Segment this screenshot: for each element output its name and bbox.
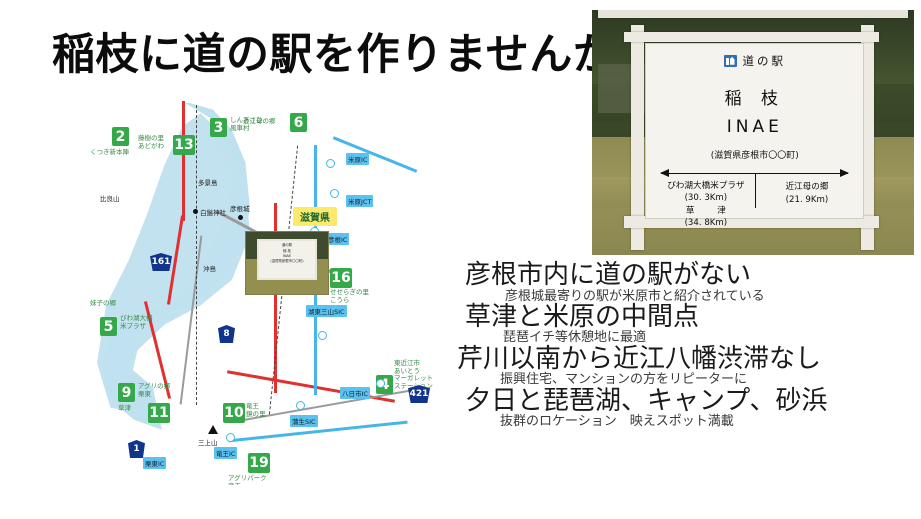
shiga-roadside-station-map: 2 くつき新本陣 3 しんあさひ 風車村 13 藤樹の里 あどがわ 6 近江母の… xyxy=(78,85,438,485)
landmark-dot-hikonejo xyxy=(238,215,243,220)
point-1-headline: 彦根市内に道の駅がない xyxy=(455,262,921,290)
landmark-hikone-castle: 彦根城 xyxy=(230,203,250,213)
roadside-station-icon xyxy=(724,55,737,67)
route-shield-421: 421 xyxy=(408,385,430,403)
sign-top-rail xyxy=(598,10,907,18)
map-marker-2-label: くつき新本陣 xyxy=(90,149,129,157)
inset-board: 道の駅 稲 枝 INAE (滋賀県彦根市〇〇町) xyxy=(257,239,316,280)
point-4-sub: 抜群のロケーション 映えスポット満載 xyxy=(455,415,921,429)
point-4-headline: 夕日と琵琶湖、キャンプ、砂浜 xyxy=(455,388,921,416)
road-red-north xyxy=(182,101,185,221)
page-title: 稲枝に道の駅を作りませんか xyxy=(52,20,616,82)
road-blue-south xyxy=(228,421,407,443)
map-marker-9[interactable]: 9 xyxy=(118,383,135,402)
sign-header-label: 道の駅 xyxy=(743,54,787,68)
ic-node-maibara-jct xyxy=(330,189,339,198)
sign-destinations-left: びわ湖大橋米プラザ (30. 3Km) 草 津 (34. 8Km) xyxy=(657,180,755,230)
inset-address: (滋賀県彦根市〇〇町) xyxy=(259,259,314,264)
map-marker-11-label: アグリの郷 栗東 xyxy=(138,383,170,398)
sign-station-name: 稲 枝 xyxy=(646,84,863,109)
ic-node-gamo xyxy=(296,401,305,410)
sign-header-row: 道の駅 xyxy=(646,53,863,69)
map-marker-6[interactable]: 6 xyxy=(290,113,307,132)
map-marker-16-label: せせらぎの里 こうら xyxy=(330,289,369,304)
map-marker-11[interactable]: 11 xyxy=(148,403,170,423)
roadside-sign-photo: 道の駅 稲 枝 INAE (滋賀県彦根市〇〇町) びわ湖大橋米プラザ (30. … xyxy=(592,10,914,255)
map-marker-2[interactable]: 2 xyxy=(112,127,129,146)
landmark-mikamiyama: 三上山 xyxy=(198,437,218,447)
ic-label-ritto-ic[interactable]: 栗東IC xyxy=(143,457,166,469)
sign-left-dist-1: (30. 3Km) xyxy=(657,192,755,204)
sign-left-dist-2: (34. 8Km) xyxy=(657,217,755,229)
sign-right-dist-1: (21. 9Km) xyxy=(759,194,855,206)
ic-label-gamo-sic[interactable]: 蒲生SIC xyxy=(290,415,318,427)
map-marker-16[interactable]: 16 xyxy=(330,268,352,288)
map-marker-5[interactable]: 5 xyxy=(100,317,117,336)
ic-node-maibara xyxy=(326,159,335,168)
ic-node-kotosanzan xyxy=(318,331,327,340)
map-marker-3[interactable]: 3 xyxy=(210,118,227,137)
ic-label-yokaichi-ic[interactable]: 八日市IC xyxy=(340,387,370,399)
ic-node-ryuo xyxy=(226,433,235,442)
point-3-headline: 芹川以南から近江八幡渋滞なし xyxy=(455,346,921,374)
sign-destinations-right: 近江母の郷 (21. 9Km) xyxy=(759,181,855,206)
ic-label-ryuo-ic[interactable]: 竜王IC xyxy=(214,447,237,459)
landmark-tri-mikami xyxy=(208,425,218,434)
map-marker-10-label: 竜王 鏡の里 xyxy=(246,403,266,418)
road-dashed-rail xyxy=(196,105,197,405)
points-list: 彦根市内に道の駅がない 彦根城最寄りの駅が米原市と紹介されている 草津と米原の中… xyxy=(455,262,921,429)
map-marker-9-label: 草津 xyxy=(118,405,131,413)
map-marker-10[interactable]: 10 xyxy=(223,403,245,423)
sign-rail-top xyxy=(624,32,878,42)
landmark-dot-shirahige xyxy=(193,209,198,214)
sign-divider xyxy=(755,173,756,208)
map-marker-13-label: 藤樹の里 あどがわ xyxy=(138,135,164,150)
sign-station-romaji: INAE xyxy=(646,117,863,137)
map-marker-13[interactable]: 13 xyxy=(173,135,195,155)
point-2-headline: 草津と米原の中間点 xyxy=(455,304,921,332)
map-marker-19[interactable]: 19 xyxy=(248,453,270,473)
route-shield-1: 1 xyxy=(128,440,145,458)
route-shield-161: 161 xyxy=(150,253,172,271)
ic-label-kotosanzan-sic[interactable]: 湖東三山SIC xyxy=(306,305,347,317)
map-marker-6-label: 近江母の郷 xyxy=(243,118,276,126)
slide-canvas: 稲枝に道の駅を作りませんか 道の駅 稲 枝 INAE (滋賀県彦根市〇〇町) び… xyxy=(0,0,921,519)
sign-right-dest-1: 近江母の郷 xyxy=(759,181,855,193)
ic-label-maibara-jct[interactable]: 米原JCT xyxy=(346,195,373,207)
landmark-imokonosato: 妹子の郷 xyxy=(90,297,116,307)
sign-left-dest-2: 草 津 xyxy=(657,205,755,217)
route-shield-8: 8 xyxy=(218,325,235,343)
landmark-okishima: 沖島 xyxy=(203,263,216,273)
landmark-hirasan: 比良山 xyxy=(100,193,120,203)
ic-label-maibara-ic[interactable]: 米原IC xyxy=(346,153,369,165)
sign-left-dest-1: びわ湖大橋米プラザ xyxy=(657,180,755,192)
ic-node-yokaichi xyxy=(376,379,385,388)
map-inset-sign-thumbnail: 道の駅 稲 枝 INAE (滋賀県彦根市〇〇町) xyxy=(245,231,329,295)
sign-address: (滋賀県彦根市〇〇町) xyxy=(646,148,863,161)
map-marker-19-label: アグリパーク 竜王 xyxy=(228,475,267,485)
map-marker-5-label: びわ湖大橋 米プラザ xyxy=(120,315,153,330)
map-marker-4-label: 東近江市 あいとう マーガレット ステーション xyxy=(394,360,433,391)
landmark-takeshima: 多景島 xyxy=(198,177,218,187)
sign-board: 道の駅 稲 枝 INAE (滋賀県彦根市〇〇町) びわ湖大橋米プラザ (30. … xyxy=(645,43,864,219)
prefecture-badge: 滋賀県 xyxy=(293,207,337,226)
landmark-shirahige: 白鬚神社 xyxy=(200,207,226,217)
ic-label-hikone-ic[interactable]: 彦根IC xyxy=(326,233,349,245)
